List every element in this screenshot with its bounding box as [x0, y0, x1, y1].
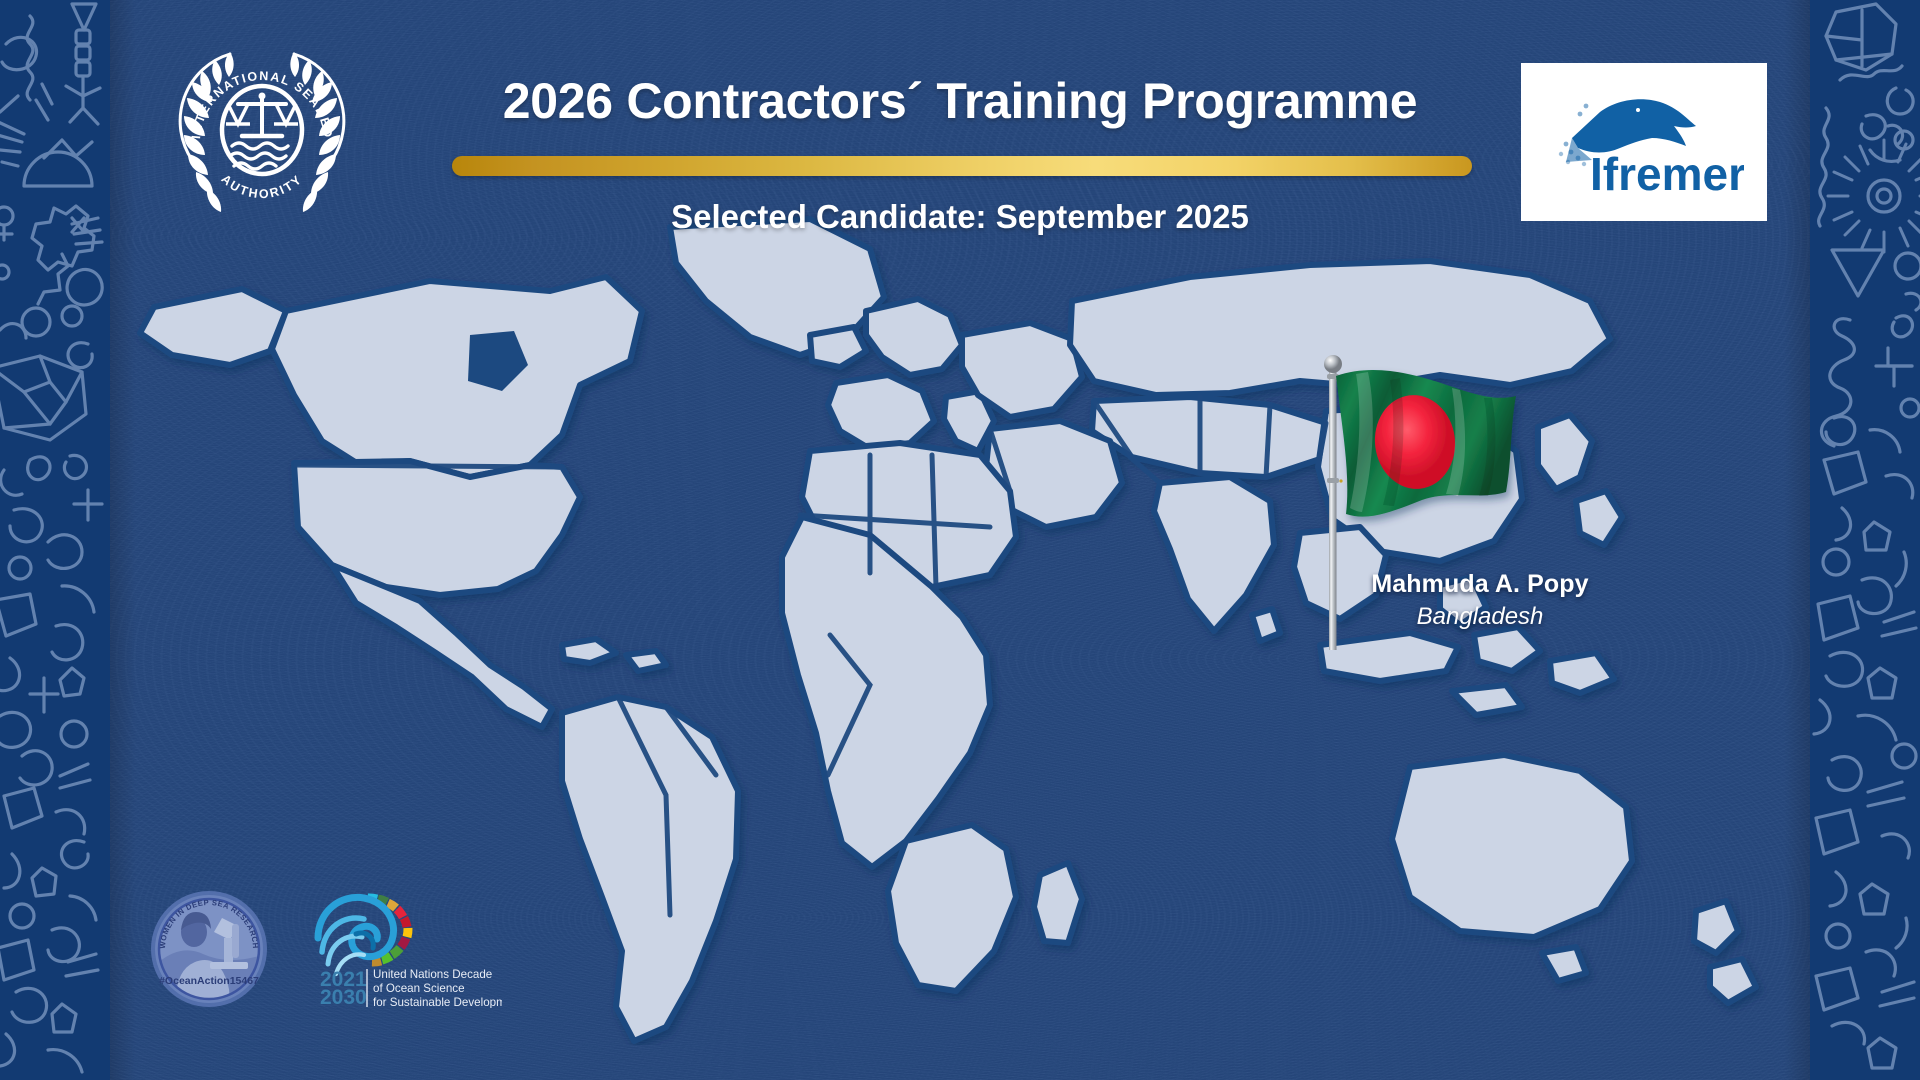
candidate-country: Bangladesh — [1290, 603, 1670, 631]
decade-text-line1: United Nations Decade — [373, 968, 492, 981]
ifremer-logo: Ifremer — [1521, 63, 1767, 221]
candidate-label: Mahmuda A. Popy Bangladesh — [1290, 570, 1670, 631]
women-in-deep-sea-research-badge: WOMEN IN DEEP SEA RESEARCH #OceanAction1… — [148, 888, 270, 1010]
decade-year-end: 2030 — [320, 986, 367, 1008]
decade-text-line3: for Sustainable Development — [373, 996, 502, 1008]
left-decorative-border — [0, 0, 110, 1080]
presentation-slide: INTERNATIONAL SEABED AUTHORITY — [0, 0, 1920, 1080]
ifremer-wordmark: Ifremer — [1590, 148, 1744, 200]
right-decorative-border — [1810, 0, 1920, 1080]
badge-hashtag: #OceanAction15467 — [159, 975, 259, 987]
un-ocean-decade-logo: 2021 2030 United Nations Decade of Ocean… — [312, 890, 502, 1008]
ocean-wave-icon — [318, 897, 394, 974]
candidate-name: Mahmuda A. Popy — [1290, 570, 1670, 599]
gold-divider-bar — [452, 156, 1472, 176]
decade-text-line2: of Ocean Science — [373, 982, 465, 995]
